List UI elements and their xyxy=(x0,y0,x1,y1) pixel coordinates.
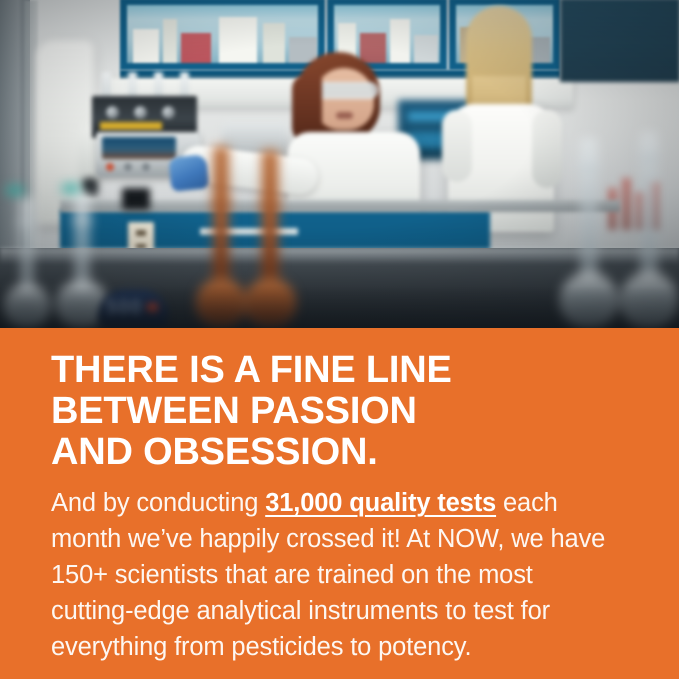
body-text-part-1: And by conducting xyxy=(51,489,265,517)
instrument-button xyxy=(124,163,132,171)
analyzer-knob xyxy=(134,106,147,119)
labeled-flask-500: 500 xyxy=(46,276,176,328)
volumetric-flask xyxy=(620,132,678,328)
quality-tests-highlight: 31,000 quality tests xyxy=(265,489,496,517)
flask-ring xyxy=(577,162,601,169)
foreground-amber-glassware xyxy=(190,142,300,328)
volumetric-flask xyxy=(4,198,50,328)
analyzer-knob xyxy=(162,106,175,119)
instrument-button xyxy=(106,163,114,171)
flask-cap xyxy=(62,184,80,193)
flask-ring xyxy=(72,218,93,224)
test-tube-rack xyxy=(102,72,197,98)
body-copy: And by conducting 31,000 quality tests e… xyxy=(51,485,617,665)
shoulder xyxy=(442,110,472,182)
photo-stage: 500 xyxy=(0,0,679,328)
cabinet-stock-item xyxy=(163,19,177,63)
cabinet-stock-item xyxy=(181,33,211,63)
flask-bulb xyxy=(4,284,50,328)
laboratory-quality-testing-photo: 500 xyxy=(0,0,679,328)
flask-marker xyxy=(147,303,158,312)
cabinet-stock-item xyxy=(133,29,159,63)
headline-line-2: BETWEEN PASSION xyxy=(51,391,651,432)
flask-ring xyxy=(259,200,282,207)
headline-line-3: AND OBSESSION. xyxy=(51,432,651,473)
promo-card: 500 xyxy=(0,0,679,679)
flask-ring xyxy=(210,198,232,205)
mouth xyxy=(336,112,353,119)
foreground-glassware-right xyxy=(560,130,679,328)
cabinet-stock-item xyxy=(219,17,257,63)
flask-cap xyxy=(6,186,24,195)
flask-bulb xyxy=(560,272,618,328)
orange-message-panel: THERE IS A FINE LINE BETWEEN PASSION AND… xyxy=(0,328,679,679)
headline: THERE IS A FINE LINE BETWEEN PASSION AND… xyxy=(51,350,651,473)
flask-bulb xyxy=(620,272,678,328)
volumetric-flask xyxy=(560,138,618,328)
flask-bulb xyxy=(244,278,296,328)
face xyxy=(314,68,374,130)
flask-neck xyxy=(262,150,279,286)
analyzer-knob xyxy=(106,106,119,119)
flask-ring xyxy=(18,220,37,226)
test-tube xyxy=(180,72,189,98)
shoulder xyxy=(532,110,562,188)
test-tube xyxy=(128,72,137,98)
blonde-scientist-standing xyxy=(448,6,554,232)
test-tube xyxy=(102,72,111,98)
amber-volumetric-flask xyxy=(244,150,296,328)
headline-line-1: THERE IS A FINE LINE xyxy=(51,350,651,391)
instrument-button xyxy=(142,163,150,171)
analyzer-strip xyxy=(100,122,162,130)
flask-neck xyxy=(581,138,598,280)
flask-volume-label: 500 xyxy=(106,297,142,320)
test-tube xyxy=(154,72,163,98)
flask-neck xyxy=(21,198,34,294)
amber-volumetric-flask xyxy=(196,146,246,328)
cabinet-stock-item xyxy=(263,23,285,63)
flask-500: 500 xyxy=(98,276,168,328)
flask-neck xyxy=(213,146,229,286)
wall-cabinet-right-dark xyxy=(560,0,679,82)
instrument-screen xyxy=(102,137,176,159)
flask-bulb xyxy=(196,278,246,328)
flask-ring xyxy=(637,152,661,159)
